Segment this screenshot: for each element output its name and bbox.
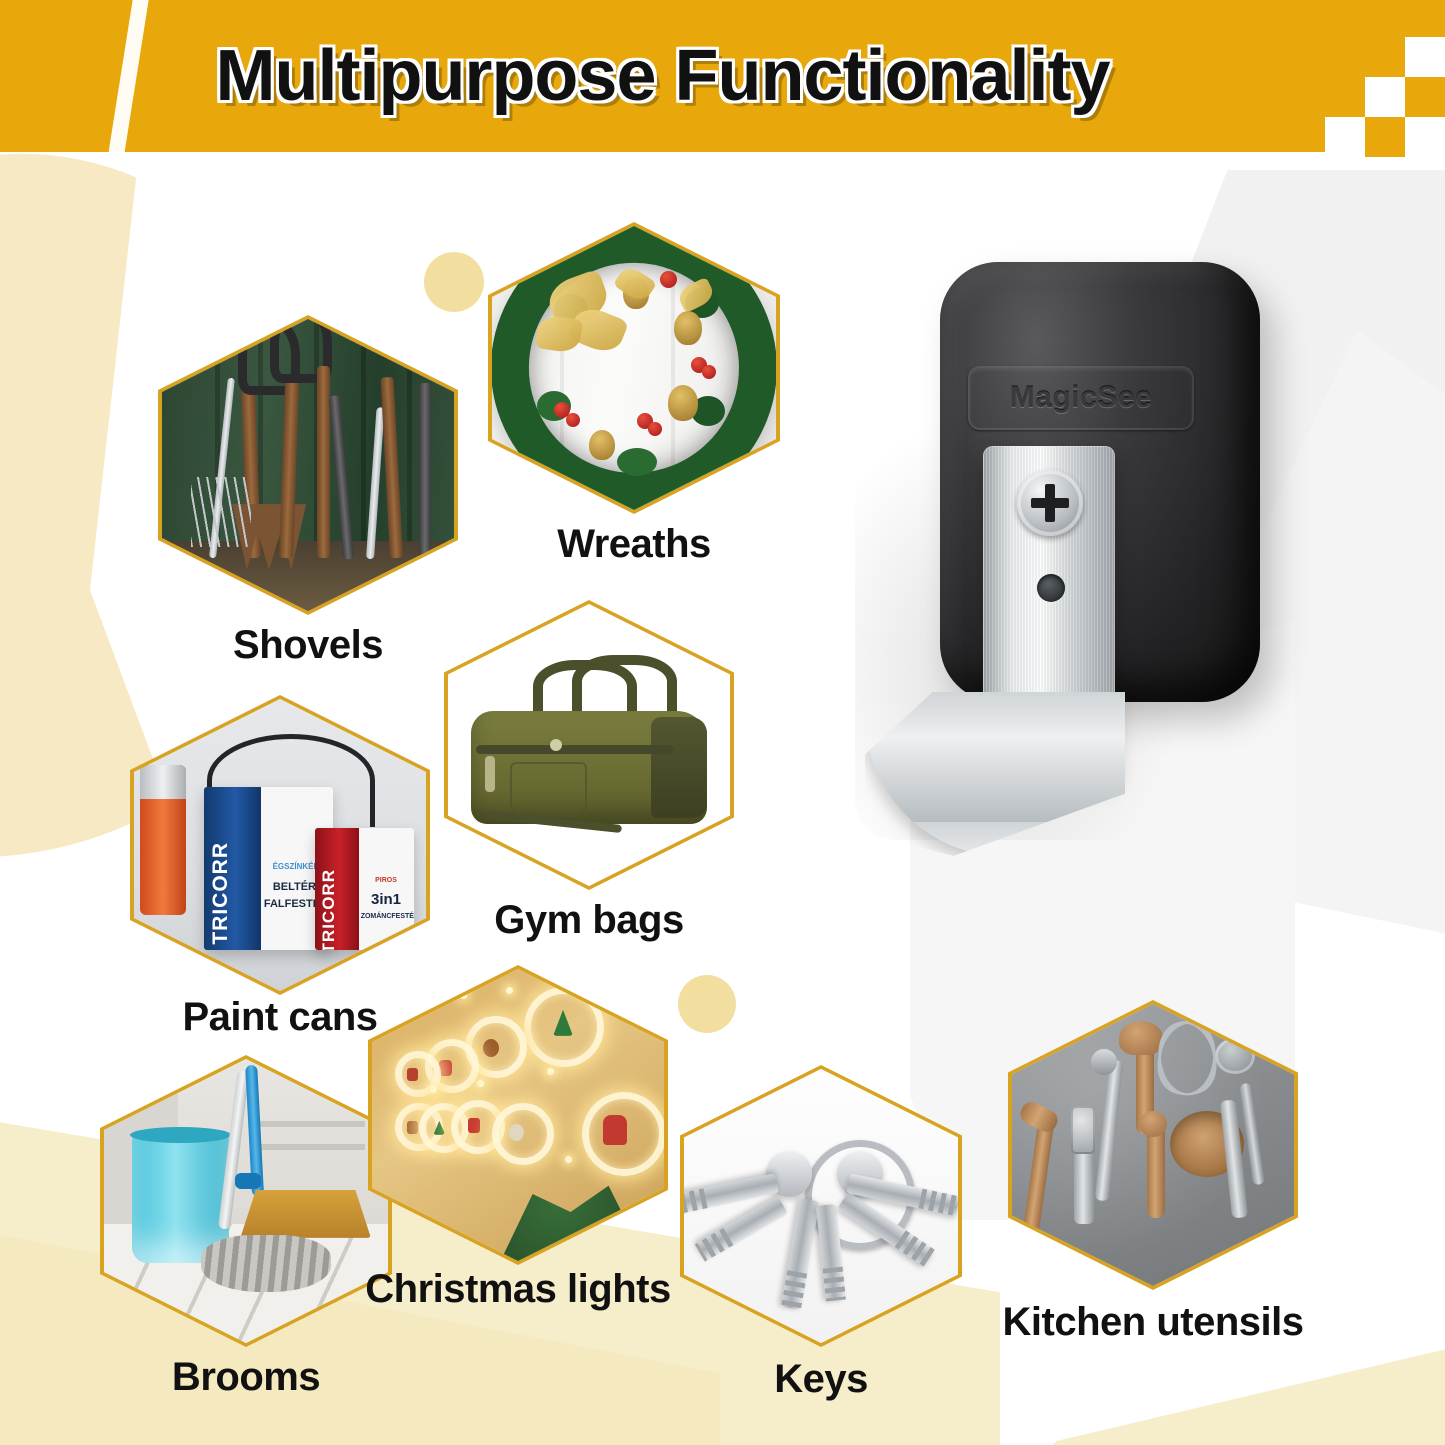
feature-label-brooms: Brooms [172, 1355, 320, 1400]
hexagon-image [1012, 1004, 1294, 1286]
screw-head [1017, 470, 1083, 536]
hexagon-image [372, 969, 664, 1261]
brand-label: MagicSee [1010, 381, 1152, 415]
feature-card-shovels[interactable]: Shovels [158, 315, 458, 615]
feature-card-christmas-lights[interactable]: Christmas lights [368, 965, 668, 1265]
paint-can-red: TRICORR PIROS 3in1 ZOMÁNCFESTÉK [315, 828, 414, 951]
checker-pattern-decoration [1330, 0, 1445, 200]
hexagon-image: TRICORR ÉGSZÍNKÉK BELTÉRI FALFESTÉK TRIC… [134, 699, 426, 991]
brand-plaque: MagicSee [968, 366, 1194, 430]
christmas-lights-illustration [372, 969, 664, 1261]
spray-can [140, 765, 186, 915]
hexagon-frame [444, 600, 734, 890]
infographic-canvas: Multipurpose Functionality MagicSee [0, 0, 1445, 1445]
hexagon-frame [158, 315, 458, 615]
keys-illustration [684, 1069, 958, 1343]
header-banner: Multipurpose Functionality [0, 0, 1445, 152]
feature-card-gym-bags[interactable]: Gym bags [444, 600, 734, 890]
paint-feature-red: 3in1 [361, 891, 412, 908]
hexagon-image [162, 319, 454, 611]
hexagon-frame [368, 965, 668, 1265]
feature-label-keys: Keys [774, 1357, 868, 1402]
brooms-illustration [104, 1059, 388, 1343]
shovels-illustration [162, 319, 454, 611]
feature-label-christmas-lights: Christmas lights [365, 1267, 670, 1312]
paint-cans-illustration: TRICORR ÉGSZÍNKÉK BELTÉRI FALFESTÉK TRIC… [134, 699, 426, 991]
feature-card-kitchen-utensils[interactable]: Kitchen utensils [1008, 1000, 1298, 1290]
wreath-illustration [492, 226, 776, 510]
gold-dot-decoration-1 [424, 252, 484, 312]
page-title: Multipurpose Functionality [0, 0, 1445, 152]
hexagon-frame [1008, 1000, 1298, 1290]
hexagon-image [684, 1069, 958, 1343]
gold-dot-decoration-2 [678, 975, 736, 1033]
hexagon-image [104, 1059, 388, 1343]
indicator-dimple [1037, 574, 1065, 602]
feature-card-brooms[interactable]: Brooms [100, 1055, 392, 1347]
paint-color-name-red: PIROS [361, 877, 412, 884]
hexagon-frame: TRICORR ÉGSZÍNKÉK BELTÉRI FALFESTÉK TRIC… [130, 695, 430, 995]
feature-card-paint-cans[interactable]: TRICORR ÉGSZÍNKÉK BELTÉRI FALFESTÉK TRIC… [130, 695, 430, 995]
hexagon-image [492, 226, 776, 510]
kitchen-utensils-illustration [1012, 1004, 1294, 1286]
product-image: MagicSee [845, 250, 1315, 930]
feature-label-kitchen-utensils: Kitchen utensils [1003, 1300, 1304, 1345]
feature-card-keys[interactable]: Keys [680, 1065, 962, 1347]
screw-slot-vertical [1045, 484, 1055, 522]
hexagon-frame [100, 1055, 392, 1347]
gym-bag-illustration [448, 604, 730, 886]
paint-type-red: ZOMÁNCFESTÉK [361, 913, 412, 920]
feature-card-wreaths[interactable]: Wreaths [488, 222, 780, 514]
hexagon-frame [488, 222, 780, 514]
feature-label-wreaths: Wreaths [557, 522, 711, 567]
feature-label-shovels: Shovels [233, 623, 383, 668]
paint-brand-red: TRICORR [319, 869, 339, 950]
feature-label-paint-cans: Paint cans [182, 995, 377, 1040]
paint-brand-blue: TRICORR [209, 842, 233, 945]
feature-label-gym-bags: Gym bags [494, 898, 683, 943]
hexagon-image [448, 604, 730, 886]
paint-can-blue: TRICORR ÉGSZÍNKÉK BELTÉRI FALFESTÉK [204, 787, 332, 951]
hexagon-frame [680, 1065, 962, 1347]
